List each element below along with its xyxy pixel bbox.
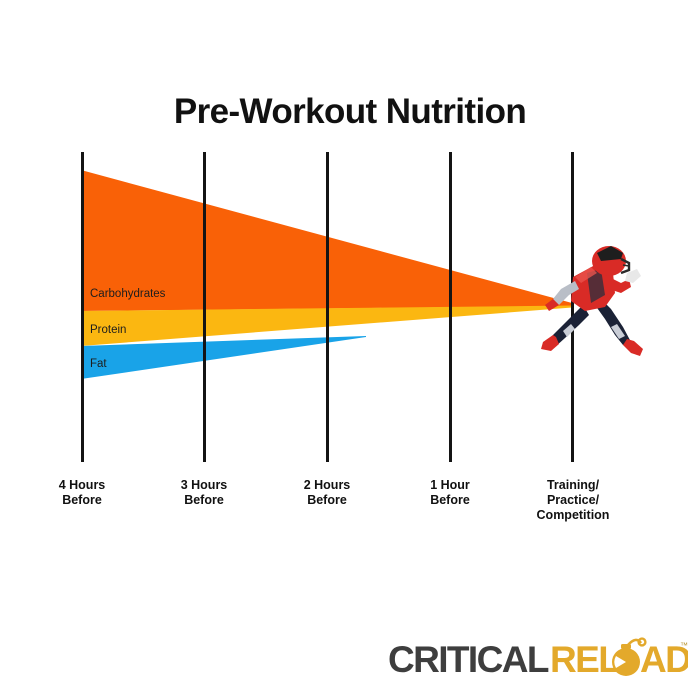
- axis-tick-1h: [449, 152, 452, 462]
- series-label-carbohydrates: Carbohydrates: [90, 288, 165, 300]
- athlete-body: [541, 246, 643, 356]
- x-axis-label-training-line1: Training/: [508, 478, 638, 493]
- infographic-root: Pre-Workout Nutrition Carbohydrates Prot…: [0, 0, 700, 700]
- running-football-player-illustration: [539, 243, 645, 361]
- logo-word-critical: CRITICAL: [388, 639, 549, 680]
- axis-tick-2h: [326, 152, 329, 462]
- x-axis-label-1h-line2: Before: [385, 493, 515, 508]
- x-axis-label-4h-line1: 4 Hours: [17, 478, 147, 493]
- critical-reload-logo[interactable]: CRITICAL REL AD ™: [388, 637, 688, 683]
- x-axis-label-training-line3: Competition: [508, 508, 638, 523]
- athlete-front-shoe: [623, 339, 643, 356]
- series-label-protein: Protein: [90, 324, 126, 336]
- x-axis-label-3h-line1: 3 Hours: [139, 478, 269, 493]
- athlete-facemask-bar: [623, 265, 629, 266]
- logo-word-rel: REL: [550, 639, 620, 680]
- chart-plot-area: Carbohydrates Protein Fat 4 Hours Before…: [0, 0, 700, 560]
- series-label-fat: Fat: [90, 358, 107, 370]
- x-axis-label-training-line2: Practice/: [508, 493, 638, 508]
- logo-trademark-symbol: ™: [680, 641, 688, 650]
- axis-tick-4h: [81, 152, 84, 462]
- x-axis-label-training: Training/ Practice/ Competition: [508, 478, 638, 523]
- x-axis-label-2h-line1: 2 Hours: [262, 478, 392, 493]
- x-axis-label-1h-line1: 1 Hour: [385, 478, 515, 493]
- logo-wordmark: CRITICAL REL AD: [388, 637, 688, 683]
- x-axis-label-3h: 3 Hours Before: [139, 478, 269, 508]
- axis-tick-3h: [203, 152, 206, 462]
- x-axis-label-4h-line2: Before: [17, 493, 147, 508]
- x-axis-label-3h-line2: Before: [139, 493, 269, 508]
- x-axis-label-4h: 4 Hours Before: [17, 478, 147, 508]
- x-axis-label-2h: 2 Hours Before: [262, 478, 392, 508]
- x-axis-label-1h: 1 Hour Before: [385, 478, 515, 508]
- x-axis-label-2h-line2: Before: [262, 493, 392, 508]
